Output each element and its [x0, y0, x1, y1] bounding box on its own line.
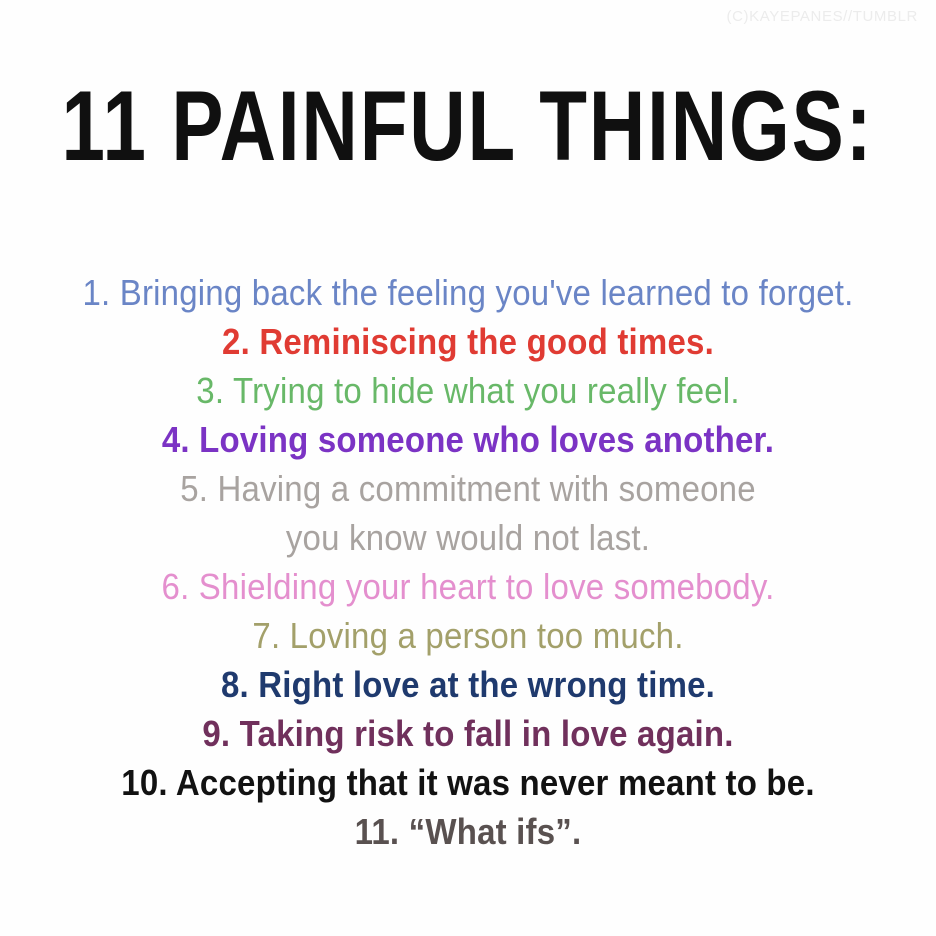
list-item: 3. Trying to hide what you really feel.: [0, 364, 936, 418]
list-item: 1. Bringing back the feeling you've lear…: [0, 266, 936, 320]
painful-things-list: 1. Bringing back the feeling you've lear…: [0, 268, 936, 856]
poster-canvas: (C)KAYEPANES//TUMBLR 11 PAINFUL THINGS: …: [0, 0, 936, 936]
list-item: 9. Taking risk to fall in love again.: [0, 707, 936, 761]
list-item: 11. “What ifs”.: [0, 805, 936, 859]
list-item: 7. Loving a person too much.: [0, 609, 936, 663]
list-item: 10. Accepting that it was never meant to…: [0, 756, 936, 810]
list-item: 8. Right love at the wrong time.: [0, 658, 936, 712]
title-block: 11 PAINFUL THINGS:: [0, 76, 936, 160]
watermark-credit: (C)KAYEPANES//TUMBLR: [727, 8, 918, 25]
list-item: 4. Loving someone who loves another.: [0, 413, 936, 467]
list-item: 2. Reminiscing the good times.: [0, 315, 936, 369]
list-item: 5. Having a commitment with someone: [0, 462, 936, 516]
page-title: 11 PAINFUL THINGS:: [62, 76, 874, 175]
list-item-continuation: you know would not last.: [0, 511, 936, 565]
list-item: 6. Shielding your heart to love somebody…: [0, 560, 936, 614]
